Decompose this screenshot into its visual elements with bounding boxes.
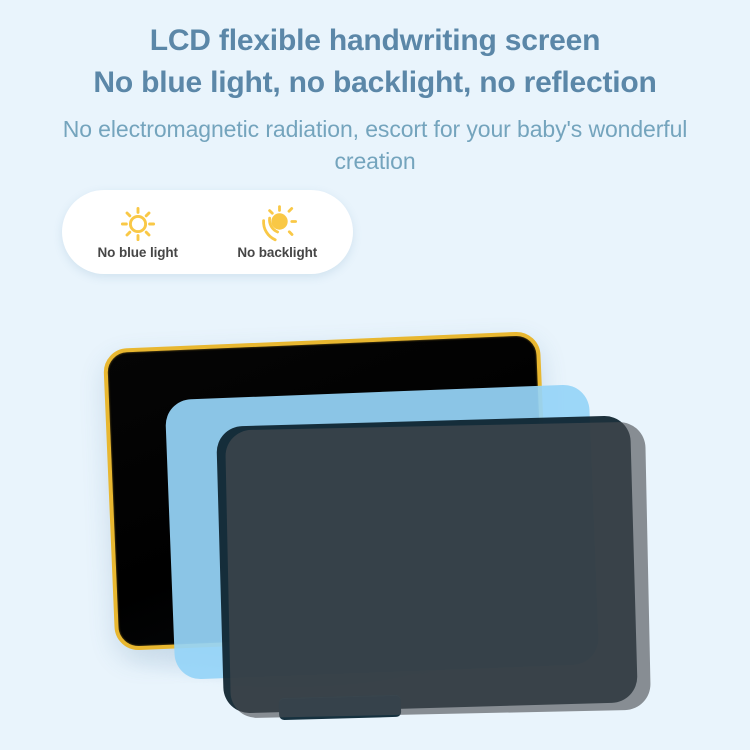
feature-label: No backlight [237,245,317,260]
panel-bottom-lip [279,695,402,720]
product-banner: LCD flexible handwriting screen No blue … [0,0,750,750]
stack-drop-shadow [118,628,448,688]
sheet-grey-layer [225,422,651,719]
sheet-light-blue-layer [165,384,599,680]
header-text-block: LCD flexible handwriting screen No blue … [0,22,750,178]
feature-no-backlight: No backlight [209,204,345,260]
sheet-dark-navy-layer [216,415,638,713]
page-subtitle: No electromagnetic radiation, escort for… [45,113,705,178]
sun-outline-icon [116,204,160,244]
feature-badge-pill: No blue light [62,190,353,274]
tablet-gold-frame-layer [103,331,552,651]
feature-label: No blue light [98,245,178,260]
page-title-line-2: No blue light, no backlight, no reflecti… [0,64,750,102]
feature-no-blue-light: No blue light [70,204,206,260]
sun-backlight-icon [255,204,299,244]
page-title-line-1: LCD flexible handwriting screen [0,22,750,60]
